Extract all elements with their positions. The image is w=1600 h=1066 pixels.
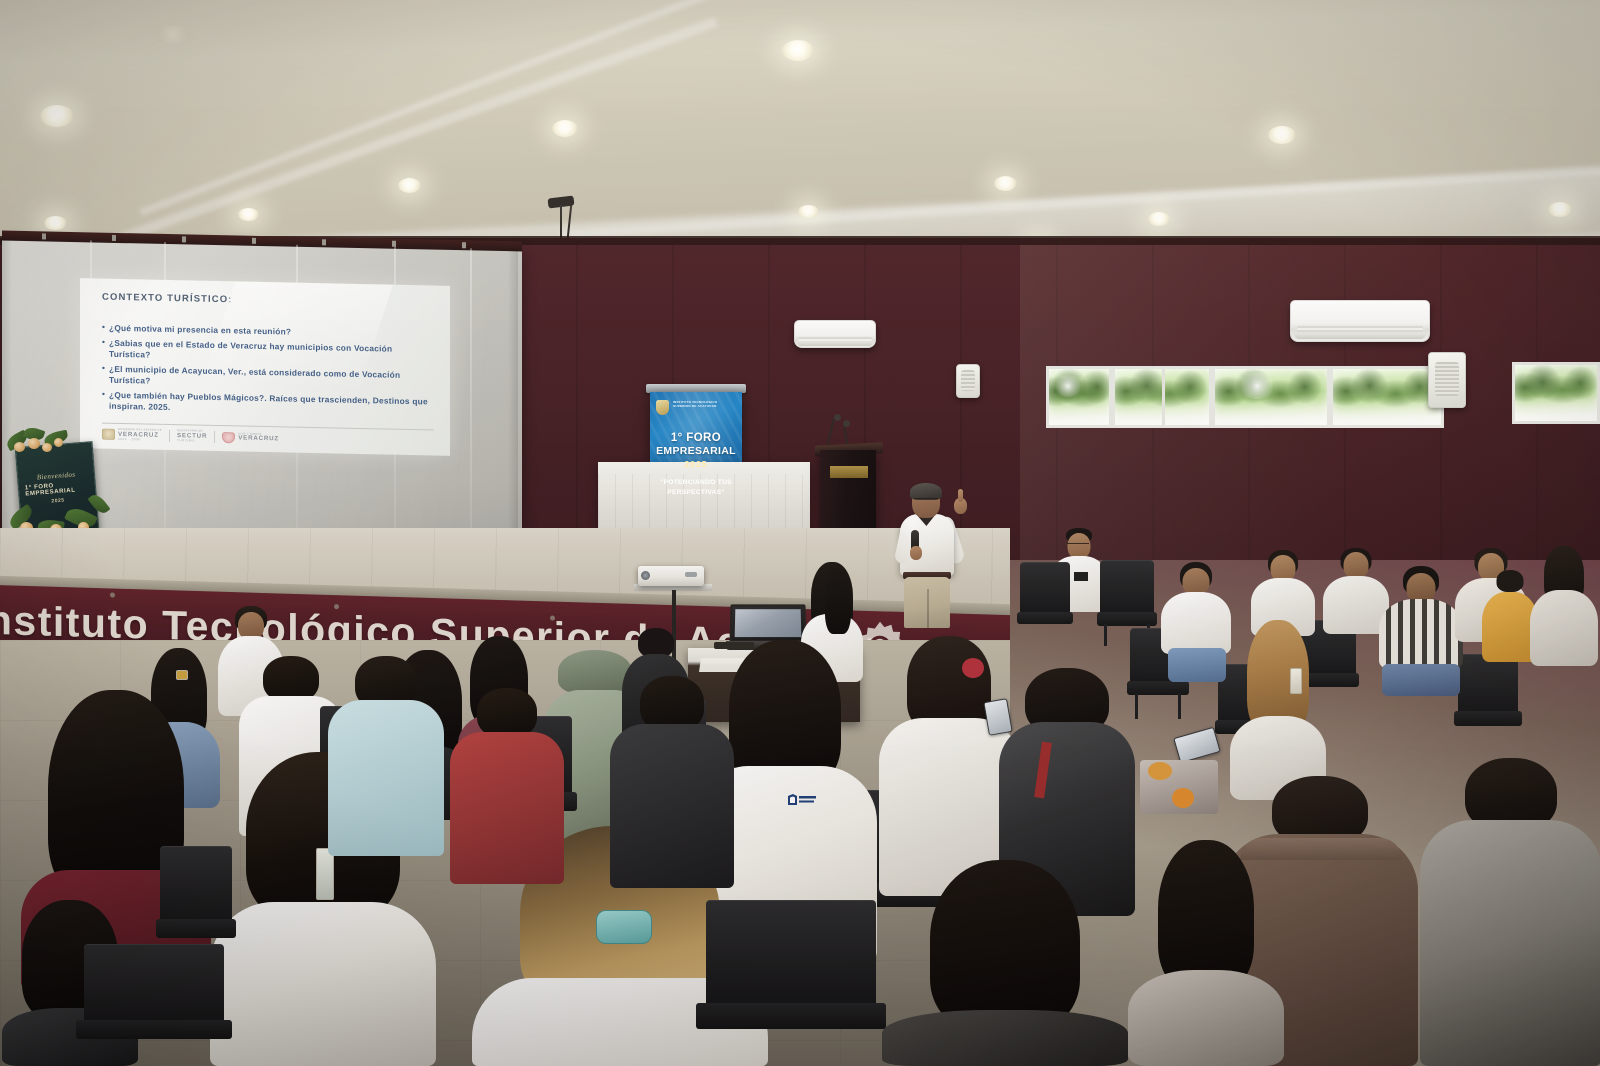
snack-item: [1172, 788, 1194, 808]
ceiling-light-icon: [994, 176, 1017, 191]
audience-member-blonde: [1228, 620, 1328, 800]
person-torso: [210, 902, 436, 1066]
draped-head-table: [598, 462, 810, 536]
wall-speaker-icon: [956, 364, 980, 398]
audience-member: [1158, 562, 1234, 682]
ceiling-light-off-icon: [150, 26, 196, 43]
logo-sectur: SECRETARÍA DE SECTUR TURISMO: [177, 430, 207, 442]
audience-member: [608, 676, 736, 888]
audience-member: [448, 688, 566, 884]
logo-divider: [169, 430, 170, 442]
logo-vive-veracruz: VIVE Y SIENTE VERACRUZ: [222, 432, 279, 444]
slide-bullet: ¿El municipio de Acayucan, Ver., está co…: [102, 363, 434, 392]
presentation-slide: CONTEXTO TURÍSTICO: ¿Qué motiva mi prese…: [80, 278, 450, 456]
hair-clip-teal: [596, 910, 652, 944]
person-hair: [1158, 840, 1254, 990]
person-torso: [1128, 970, 1284, 1066]
hair-clip: [1290, 668, 1302, 694]
hair-bow: [962, 658, 984, 678]
ceiling-light-icon: [798, 205, 819, 218]
ceiling-light-icon: [1148, 212, 1170, 226]
air-conditioner-icon: [1290, 300, 1430, 342]
welcome-line2: 2025: [51, 497, 65, 504]
ceiling-light-icon: [40, 105, 74, 127]
person-head: [1344, 552, 1369, 579]
person-hair: [1497, 570, 1524, 592]
ceiling-light-icon: [782, 40, 814, 61]
audience-member: [326, 656, 446, 856]
window: [1046, 366, 1112, 428]
banner-title-line2: EMPRESARIAL: [650, 445, 742, 457]
window: [1212, 366, 1330, 428]
tecnm-shirt-logo-icon: [786, 792, 818, 809]
chair: [1458, 654, 1518, 746]
slide-bullet: ¿Sabias que en el Estado de Veracruz hay…: [102, 338, 434, 367]
laptop-screen: [729, 604, 806, 642]
audience-member: [1528, 546, 1600, 666]
slide-bullet: ¿Que también hay Pueblos Mágicos?. Raíce…: [102, 389, 434, 418]
ceiling-light-icon: [1268, 126, 1296, 144]
name-badge: [1074, 572, 1088, 581]
presenter-mic-hand: [910, 546, 922, 560]
institution-crest-icon: [656, 400, 669, 415]
hair-clip: [176, 670, 188, 680]
banner-institution-block: INSTITUTO TECNOLÓGICO SUPERIOR DE ACAYUC…: [656, 400, 736, 415]
banner-institution-line2: SUPERIOR DE ACAYUCAN: [673, 404, 717, 408]
person-torso: [328, 700, 444, 856]
vive-veracruz-icon: [222, 432, 235, 443]
presenter: [886, 486, 976, 628]
person-torso: [450, 732, 564, 884]
slide-title: CONTEXTO TURÍSTICO:: [102, 292, 434, 310]
audience-member: [1418, 758, 1600, 1066]
person-torso: [610, 724, 734, 888]
microphone-head-icon: [834, 414, 841, 421]
window: [1512, 362, 1600, 424]
person-torso: [882, 1010, 1128, 1066]
ceiling-light-icon: [552, 120, 578, 137]
logo-divider: [214, 431, 215, 443]
person-torso: [1420, 820, 1600, 1066]
ceiling-light-icon: [238, 208, 259, 221]
person-torso: [1530, 590, 1598, 666]
eyeglasses-icon: [914, 498, 938, 503]
chair: [1020, 562, 1070, 642]
podium-nameplate: [830, 466, 868, 478]
pointing-finger-icon: [958, 489, 963, 502]
slide-bullet-list: ¿Qué motiva mi presencia en esta reunión…: [102, 323, 434, 419]
air-conditioner-icon: [794, 320, 876, 348]
person-hair-front: [825, 568, 851, 634]
auditorium-photo: CONTEXTO TURÍSTICO: ¿Qué motiva mi prese…: [0, 0, 1600, 1066]
projector: [638, 566, 704, 586]
window: [1330, 366, 1444, 428]
audience-member: [1126, 840, 1286, 1066]
eyeglasses-icon: [1067, 543, 1089, 547]
projector-panel-icon: [685, 572, 697, 577]
banner-tagline: "POTENCIANDO TUS PERSPECTIVAS": [655, 478, 737, 498]
banner-title-line1: 1° FORO: [650, 432, 742, 444]
person-torso: [1379, 599, 1463, 669]
window: [1112, 366, 1212, 428]
person-torso: [1161, 592, 1231, 654]
person-jeans: [1168, 648, 1226, 682]
slide-logo-bar: GOBIERNO DEL ESTADO DE VERACRUZ 2024 · 2…: [102, 423, 434, 448]
person-hair: [930, 860, 1080, 1030]
banner-year: 2025: [650, 459, 742, 469]
microphone-head-icon: [843, 420, 850, 427]
welcome-script-text: Bienvenidos: [36, 471, 75, 482]
person-hair: [477, 688, 537, 738]
projector-lens-icon: [641, 571, 650, 580]
snack-item: [1148, 762, 1172, 780]
ceiling-light-icon: [1548, 202, 1572, 217]
wall-speaker-icon: [1428, 352, 1466, 408]
ceiling-light-icon: [44, 216, 67, 230]
chair: [706, 900, 876, 1066]
audience-member: [880, 860, 1130, 1066]
person-jeans: [1382, 664, 1460, 696]
chair: [160, 846, 232, 964]
ceiling-light-icon: [398, 178, 421, 193]
logo-big-text: VERACRUZ: [238, 436, 279, 443]
presenter-pants: [904, 577, 950, 628]
welcome-line1: 1° FORO EMPRESARIAL: [25, 481, 90, 498]
